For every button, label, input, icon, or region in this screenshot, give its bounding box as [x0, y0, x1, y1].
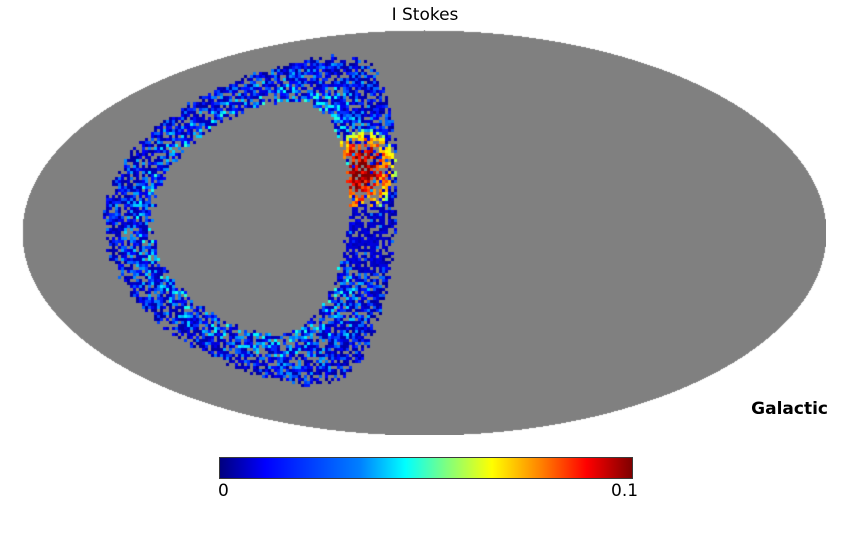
figure-canvas: I Stokes Galactic 0 0.1 [0, 0, 850, 540]
colorbar-min-tick-label: 0 [218, 481, 229, 501]
page-title: I Stokes [0, 4, 850, 26]
sky-projection-canvas [22, 30, 826, 435]
colorbar-gradient [219, 457, 633, 479]
mollweide-sky-map [22, 30, 826, 435]
coordinate-system-label: Galactic [751, 399, 828, 419]
colorbar[interactable] [219, 457, 633, 479]
colorbar-max-tick-label: 0.1 [611, 481, 638, 501]
